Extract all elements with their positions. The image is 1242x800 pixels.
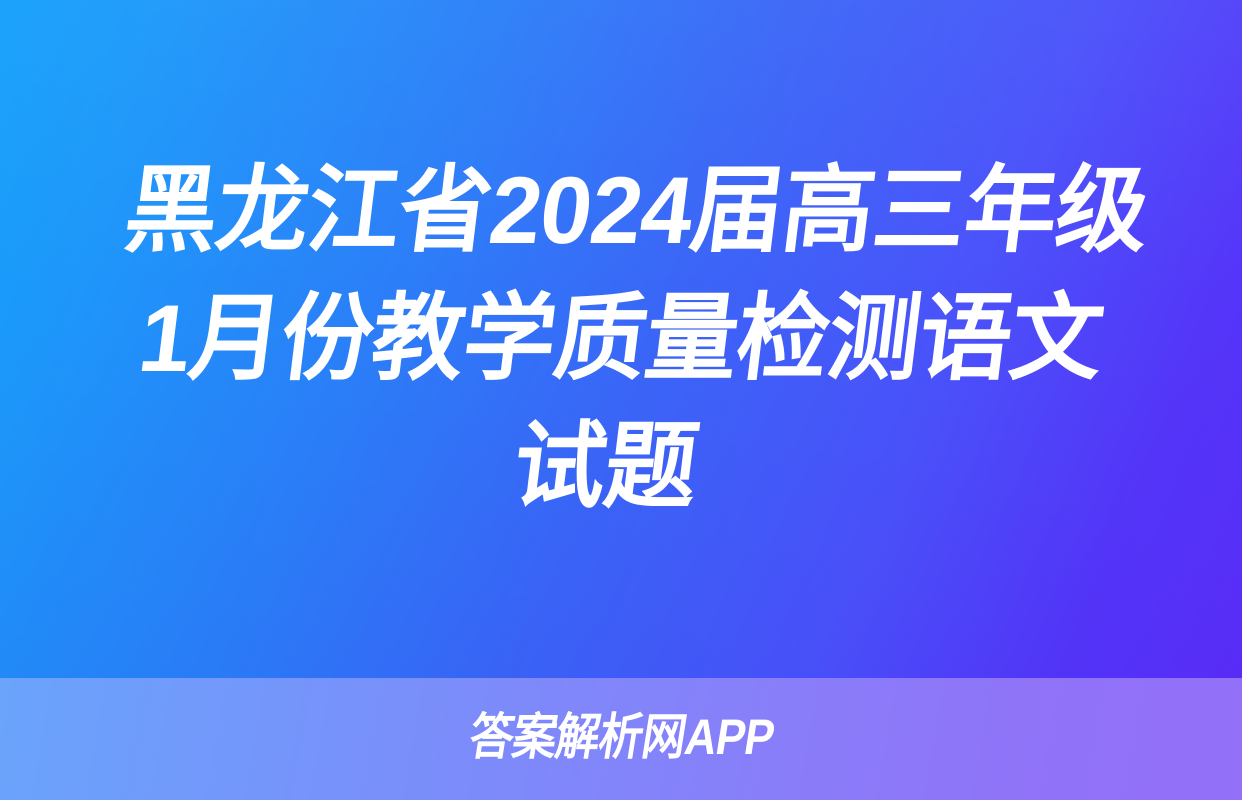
footer-band: 答案解析网APP bbox=[0, 678, 1242, 800]
footer-brand-label: 答案解析网APP bbox=[465, 712, 777, 766]
poster-card: 黑龙江省2024届高三年级1月份教学质量检测语文试题 答案解析网APP bbox=[0, 0, 1242, 800]
title-block: 黑龙江省2024届高三年级1月份教学质量检测语文试题 bbox=[0, 0, 1242, 678]
page-title: 黑龙江省2024届高三年级1月份教学质量检测语文试题 bbox=[74, 147, 1169, 531]
